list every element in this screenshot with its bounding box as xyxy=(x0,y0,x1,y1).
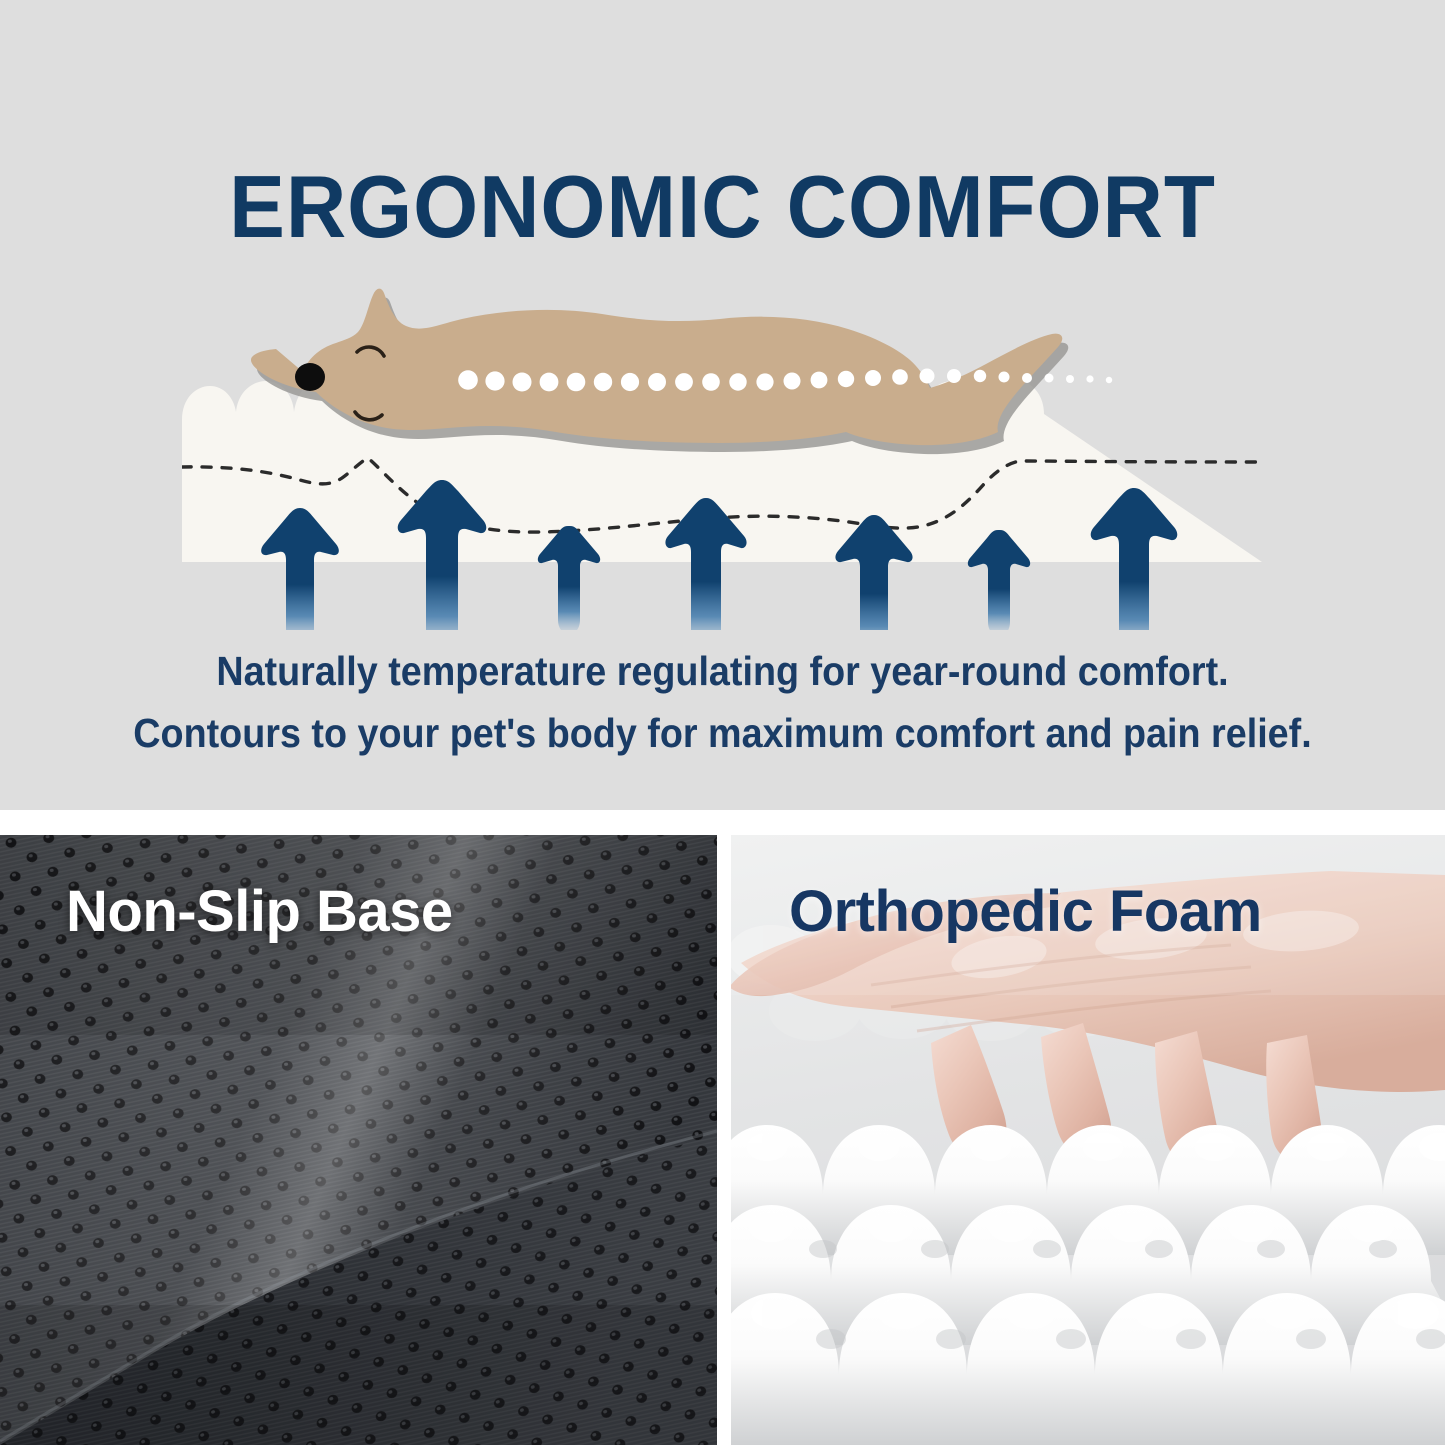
infographic-page: ERGONOMIC COMFORT xyxy=(0,0,1445,1445)
ergonomic-comfort-panel: ERGONOMIC COMFORT xyxy=(0,0,1445,810)
orthopedic-foam-label: Orthopedic Foam xyxy=(789,883,1262,941)
feature-description-line-2: Contours to your pet's body for maximum … xyxy=(58,702,1387,764)
dog-nose-icon xyxy=(295,363,325,391)
dog-body xyxy=(251,289,1062,445)
egg-crate-foam-rows xyxy=(731,1125,1445,1445)
orthopedic-foam-panel: Orthopedic Foam xyxy=(731,835,1445,1445)
non-slip-base-label: Non-Slip Base xyxy=(66,883,453,941)
panel-gap-divider xyxy=(0,810,1445,835)
feature-description: Naturally temperature regulating for yea… xyxy=(0,640,1445,764)
feature-description-line-1: Naturally temperature regulating for yea… xyxy=(58,640,1387,702)
vertical-panel-divider xyxy=(717,835,731,1445)
dog-on-foam-illustration xyxy=(0,230,1445,630)
sleeping-dog-illustration xyxy=(251,289,1112,454)
non-slip-base-panel: Non-Slip Base xyxy=(0,835,717,1445)
